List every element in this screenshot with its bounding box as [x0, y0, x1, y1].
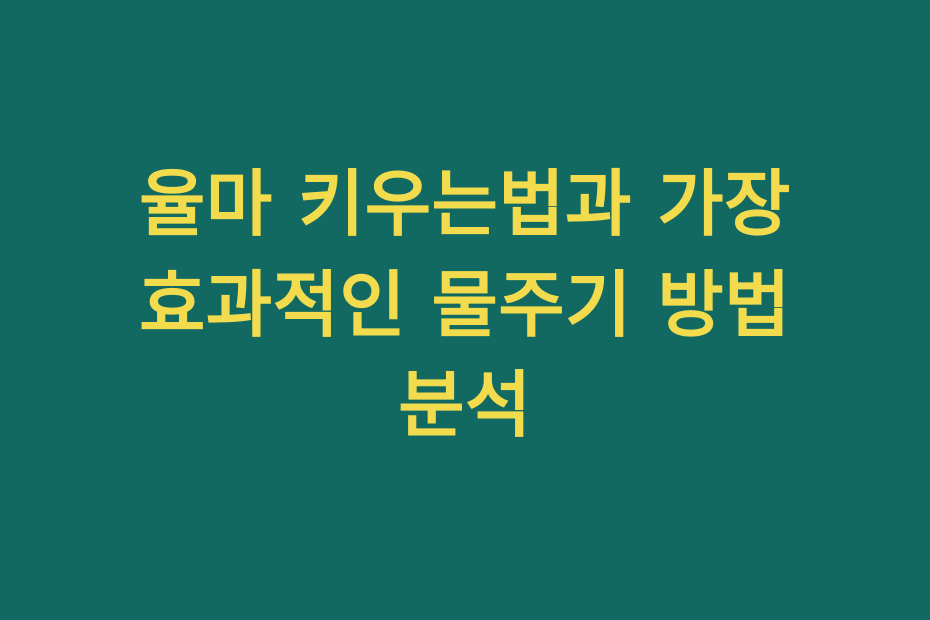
- title-block: 율마 키우는법과 가장 효과적인 물주기 방법 분석: [60, 154, 870, 456]
- page-title: 율마 키우는법과 가장 효과적인 물주기 방법 분석: [60, 154, 870, 456]
- poster-canvas: 율마 키우는법과 가장 효과적인 물주기 방법 분석: [0, 0, 930, 620]
